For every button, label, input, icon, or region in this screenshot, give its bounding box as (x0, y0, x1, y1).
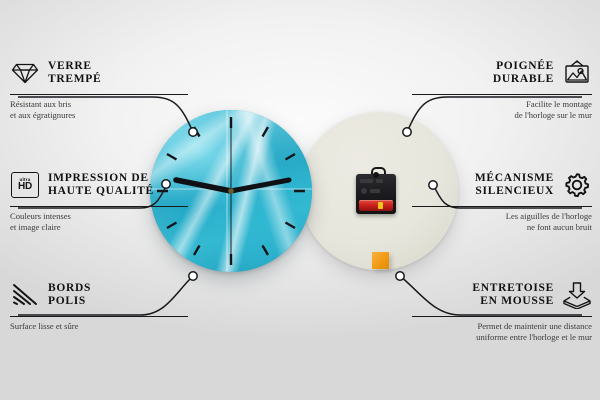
callout-title: BORDS POLIS (48, 282, 91, 309)
hanging-picture-frame-icon (562, 58, 592, 88)
hd-label: HD (18, 182, 32, 192)
callout-header: BORDS POLIS (10, 278, 188, 312)
clock-hub (228, 188, 234, 194)
callout-description: Les aiguilles de l'horloge ne font aucun… (412, 211, 592, 232)
callout-header: VERRE TREMPÉ (10, 56, 188, 90)
ultra-hd-icon: ultra HD (10, 170, 40, 200)
diamond-icon (10, 58, 40, 88)
clock-mechanism (356, 172, 396, 214)
mechanism-shaft (373, 172, 379, 178)
arrow-on-foam-pad-icon (562, 280, 592, 310)
callout-description: Facilite le montage de l'horloge sur le … (412, 99, 592, 120)
callout-description: Permet de maintenir une distance uniform… (412, 321, 592, 342)
callout-bords-polis[interactable]: BORDS POLIS Surface lisse et sûre (10, 278, 188, 332)
callout-title: ENTRETOISE EN MOUSSE (472, 282, 554, 309)
mechanism-housing (356, 174, 396, 214)
callout-header: ultra HD IMPRESSION DE HAUTE QUALITÉ (10, 168, 188, 202)
callout-divider (10, 206, 188, 207)
callout-divider (412, 316, 592, 317)
callout-header: ENTRETOISE EN MOUSSE (412, 278, 592, 312)
callout-divider (412, 94, 592, 95)
callout-header: POIGNÉE DURABLE (412, 56, 592, 90)
infographic-canvas: VERRE TREMPÉ Résistant aux bris et aux é… (0, 0, 600, 400)
callout-title: VERRE TREMPÉ (48, 60, 101, 87)
callout-title: IMPRESSION DE HAUTE QUALITÉ (48, 172, 154, 199)
callout-poignee-durable[interactable]: POIGNÉE DURABLE Facilite le montage de l… (412, 56, 592, 120)
callout-description: Résistant aux bris et aux égratignures (10, 99, 188, 120)
callout-divider (10, 94, 188, 95)
callout-mecanisme-silencieux[interactable]: MÉCANISME SILENCIEUX Les aiguilles de l'… (412, 168, 592, 232)
callout-header: MÉCANISME SILENCIEUX (412, 168, 592, 202)
callout-title: MÉCANISME SILENCIEUX (475, 172, 554, 199)
callout-description: Surface lisse et sûre (10, 321, 188, 332)
callout-divider (412, 206, 592, 207)
minute-hand (231, 180, 289, 191)
callout-title: POIGNÉE DURABLE (493, 60, 554, 87)
battery (359, 200, 393, 211)
callout-verre-trempe[interactable]: VERRE TREMPÉ Résistant aux bris et aux é… (10, 56, 188, 120)
gear-icon (562, 170, 592, 200)
callout-entretoise-en-mousse[interactable]: ENTRETOISE EN MOUSSE Permet de maintenir… (412, 278, 592, 342)
diagonal-stripes-icon (10, 280, 40, 310)
callout-impression-haute-qualite[interactable]: ultra HD IMPRESSION DE HAUTE QUALITÉ Cou… (10, 168, 188, 232)
callout-divider (10, 316, 188, 317)
foam-spacer (372, 252, 389, 269)
callout-description: Couleurs intenses et image claire (10, 211, 188, 232)
